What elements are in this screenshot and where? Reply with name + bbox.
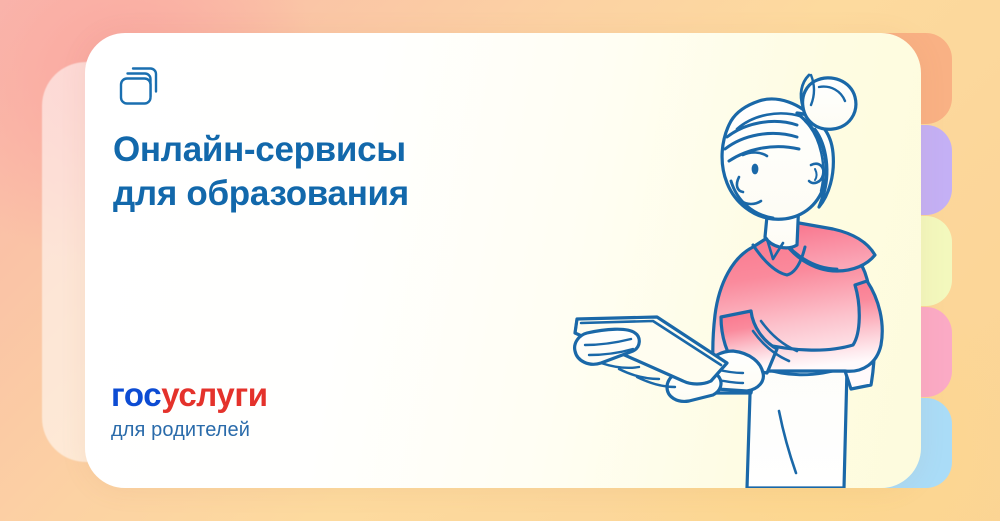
- woman-with-phone-illustration: [515, 33, 921, 488]
- layers-icon: [112, 61, 166, 111]
- logo-word-accent: услуги: [161, 376, 267, 413]
- gosuslugi-logo: госуслуги для родителей: [111, 378, 411, 440]
- logo-word-primary: гос: [111, 376, 161, 413]
- banner-stage: Онлайн-сервисы для образования госуслуги…: [0, 0, 1000, 521]
- logo-subtitle: для родителей: [111, 420, 411, 440]
- main-card: Онлайн-сервисы для образования госуслуги…: [85, 33, 921, 488]
- logo-wordmark: госуслуги: [111, 378, 411, 411]
- page-title: Онлайн-сервисы для образования: [113, 128, 583, 216]
